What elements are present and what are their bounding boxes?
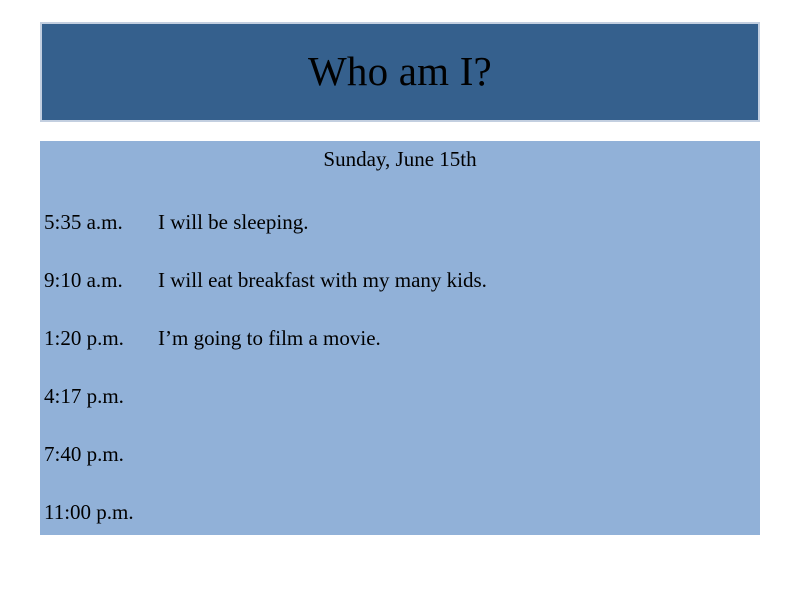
schedule-time: 5:35 a.m. [44,193,123,251]
schedule-time: 4:17 p.m. [44,367,124,425]
schedule-list: 5:35 a.m. I will be sleeping. 9:10 a.m. … [40,193,760,541]
schedule-row: 1:20 p.m. I’m going to film a movie. [40,309,760,367]
schedule-row: 9:10 a.m. I will eat breakfast with my m… [40,251,760,309]
schedule-row: 11:00 p.m. [40,483,760,541]
schedule-description: I will eat breakfast with my many kids. [158,251,487,309]
slide-subtitle-date: Sunday, June 15th [40,145,760,173]
schedule-row: 4:17 p.m. [40,367,760,425]
schedule-time: 7:40 p.m. [44,425,124,483]
schedule-time: 1:20 p.m. [44,309,124,367]
page-title: Who am I? [308,49,492,94]
schedule-row: 5:35 a.m. I will be sleeping. [40,193,760,251]
schedule-description: I will be sleeping. [158,193,308,251]
presentation-slide: Who am I? Sunday, June 15th 5:35 a.m. I … [0,0,800,600]
schedule-row: 7:40 p.m. [40,425,760,483]
schedule-description: I’m going to film a movie. [158,309,381,367]
slide-content-box: Sunday, June 15th 5:35 a.m. I will be sl… [40,141,760,535]
slide-title-bar: Who am I? [40,22,760,122]
schedule-time: 11:00 p.m. [44,483,134,541]
schedule-time: 9:10 a.m. [44,251,123,309]
